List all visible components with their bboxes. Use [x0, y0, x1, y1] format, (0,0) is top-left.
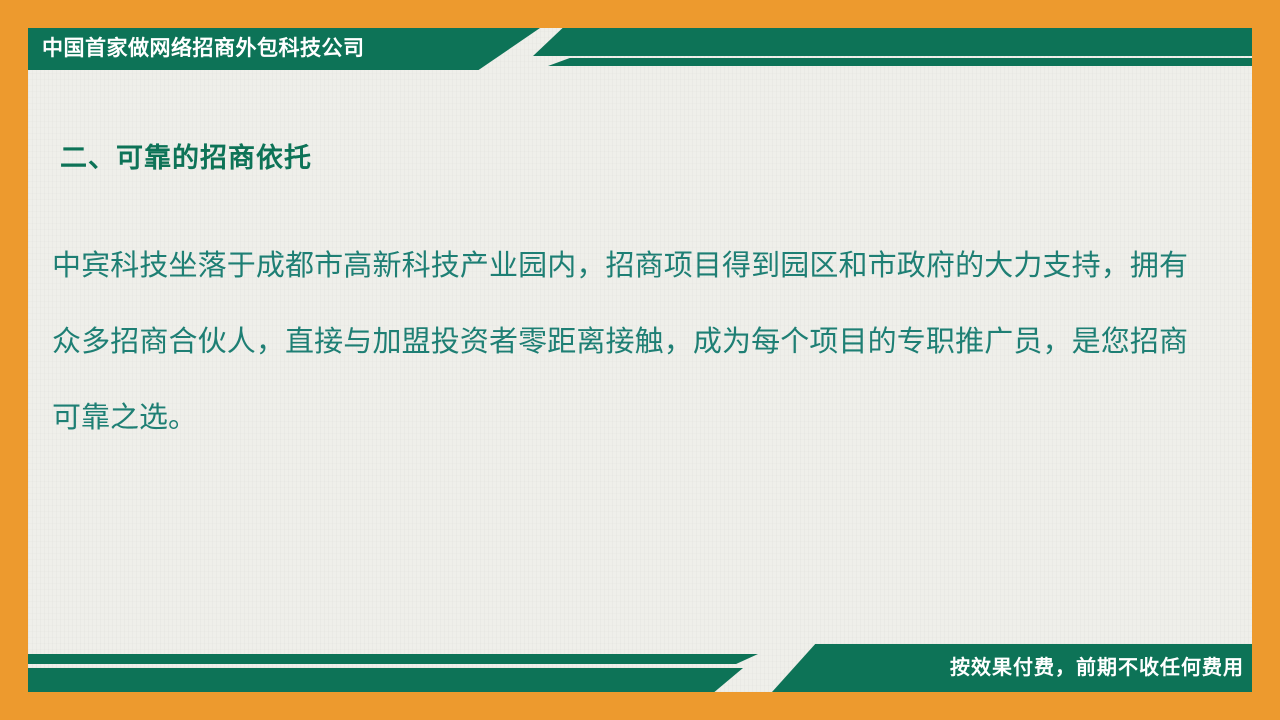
footer-stripe-upper: [28, 654, 758, 664]
footer-stripe-lower: [28, 668, 743, 692]
body-paragraph: 中宾科技坐落于成都市高新科技产业园内，招商项目得到园区和市政府的大力支持，拥有众…: [52, 228, 1188, 456]
header-stripe-lower: [548, 58, 1252, 66]
section-heading: 二、可靠的招商依托: [60, 136, 312, 175]
slide: 中国首家做网络招商外包科技公司 二、可靠的招商依托 中宾科技坐落于成都市高新科技…: [0, 0, 1280, 720]
footer-tagline: 按效果付费，前期不收任何费用: [950, 651, 1244, 680]
header-stripe-upper: [533, 28, 1252, 56]
header-title: 中国首家做网络招商外包科技公司: [42, 34, 365, 64]
